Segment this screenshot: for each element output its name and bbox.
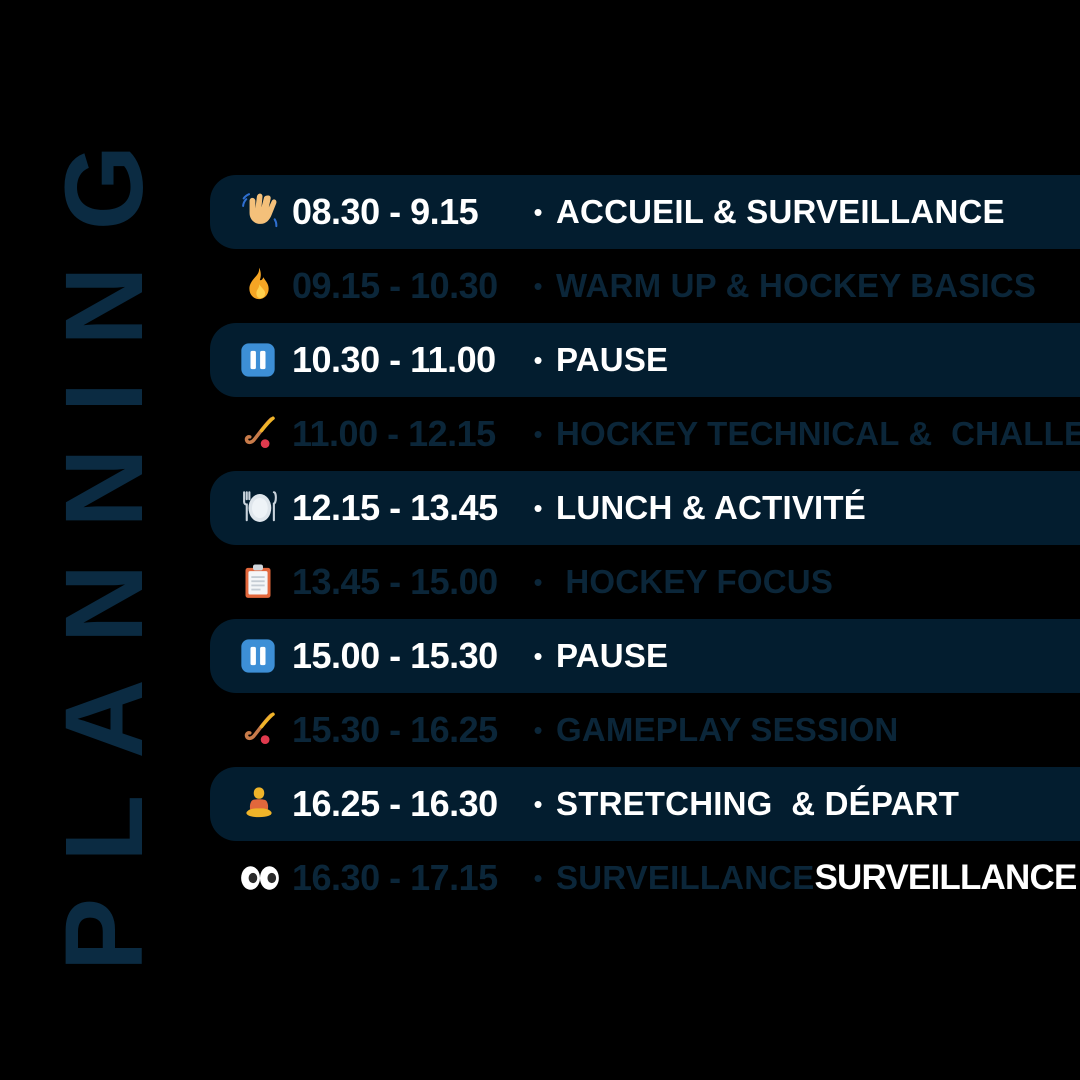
schedule-row-label: WARM UP & HOCKEY BASICS xyxy=(556,267,1036,305)
schedule-row-label: HOCKEY FOCUS xyxy=(556,563,833,601)
schedule-row-label-overlay: SURVEILLANCE xyxy=(815,858,1077,897)
vertical-title-area: PLANNING xyxy=(0,0,210,1080)
clipboard-emoji xyxy=(238,562,292,602)
schedule-row[interactable]: 15.00 - 15.30•PAUSE xyxy=(210,619,1080,693)
bullet-separator: • xyxy=(520,347,556,373)
schedule-row-time: 16.25 - 16.30 xyxy=(292,783,520,825)
schedule-row[interactable]: 13.45 - 15.00• HOCKEY FOCUS xyxy=(210,545,1080,619)
eyes-emoji xyxy=(238,861,292,895)
schedule-row-time: 15.30 - 16.25 xyxy=(292,709,520,751)
schedule-row-label-text: SURVEILLANCE xyxy=(556,859,815,896)
pause-button-emoji xyxy=(238,636,292,676)
schedule-row-time: 08.30 - 9.15 xyxy=(292,191,520,233)
pause-button-emoji xyxy=(238,340,292,380)
schedule-row[interactable]: 10.30 - 11.00•PAUSE xyxy=(210,323,1080,397)
schedule-row-time: 09.15 - 10.30 xyxy=(292,265,520,307)
bullet-separator: • xyxy=(520,199,556,225)
bullet-separator: • xyxy=(520,791,556,817)
fire-emoji xyxy=(238,265,292,307)
schedule-row[interactable]: 16.30 - 17.15•SURVEILLANCESURVEILLANCE xyxy=(210,841,1080,915)
schedule-row-label: GAMEPLAY SESSION xyxy=(556,711,898,749)
fork-and-knife-with-plate-emoji xyxy=(238,487,292,529)
schedule-row-label: HOCKEY TECHNICAL & CHALLENGE xyxy=(556,415,1080,453)
schedule-row-time: 12.15 - 13.45 xyxy=(292,487,520,529)
schedule-row-label: SURVEILLANCESURVEILLANCE xyxy=(556,858,1077,898)
schedule-row-label: LUNCH & ACTIVITÉ xyxy=(556,489,866,527)
page-title: PLANNING xyxy=(50,109,160,971)
schedule-list: 08.30 - 9.15•ACCUEIL & SURVEILLANCE 09.1… xyxy=(210,175,1080,915)
schedule-row-time: 11.00 - 12.15 xyxy=(292,413,520,455)
schedule-row-label: ACCUEIL & SURVEILLANCE xyxy=(556,193,1005,231)
bullet-separator: • xyxy=(520,495,556,521)
schedule-row[interactable]: 11.00 - 12.15•HOCKEY TECHNICAL & CHALLEN… xyxy=(210,397,1080,471)
schedule-row[interactable]: 09.15 - 10.30•WARM UP & HOCKEY BASICS xyxy=(210,249,1080,323)
waving-hand-emoji xyxy=(238,190,292,234)
poster-canvas: PLANNING 08.30 - 9.15•ACCUEIL & SURVEILL… xyxy=(0,0,1080,1080)
schedule-row-label: STRETCHING & DÉPART xyxy=(556,785,959,823)
person-in-lotus-position-emoji xyxy=(238,783,292,825)
bullet-separator: • xyxy=(520,421,556,447)
schedule-row-time: 15.00 - 15.30 xyxy=(292,635,520,677)
schedule-row-time: 16.30 - 17.15 xyxy=(292,857,520,899)
bullet-separator: • xyxy=(520,865,556,891)
schedule-row[interactable]: 12.15 - 13.45•LUNCH & ACTIVITÉ xyxy=(210,471,1080,545)
field-hockey-emoji xyxy=(238,709,292,751)
schedule-row-time: 10.30 - 11.00 xyxy=(292,339,520,381)
bullet-separator: • xyxy=(520,273,556,299)
bullet-separator: • xyxy=(520,643,556,669)
field-hockey-emoji xyxy=(238,413,292,455)
bullet-separator: • xyxy=(520,717,556,743)
schedule-row-label: PAUSE xyxy=(556,637,668,675)
schedule-row[interactable]: 08.30 - 9.15•ACCUEIL & SURVEILLANCE xyxy=(210,175,1080,249)
schedule-row-label: PAUSE xyxy=(556,341,668,379)
schedule-row[interactable]: 15.30 - 16.25•GAMEPLAY SESSION xyxy=(210,693,1080,767)
schedule-row-time: 13.45 - 15.00 xyxy=(292,561,520,603)
bullet-separator: • xyxy=(520,569,556,595)
schedule-row[interactable]: 16.25 - 16.30•STRETCHING & DÉPART xyxy=(210,767,1080,841)
